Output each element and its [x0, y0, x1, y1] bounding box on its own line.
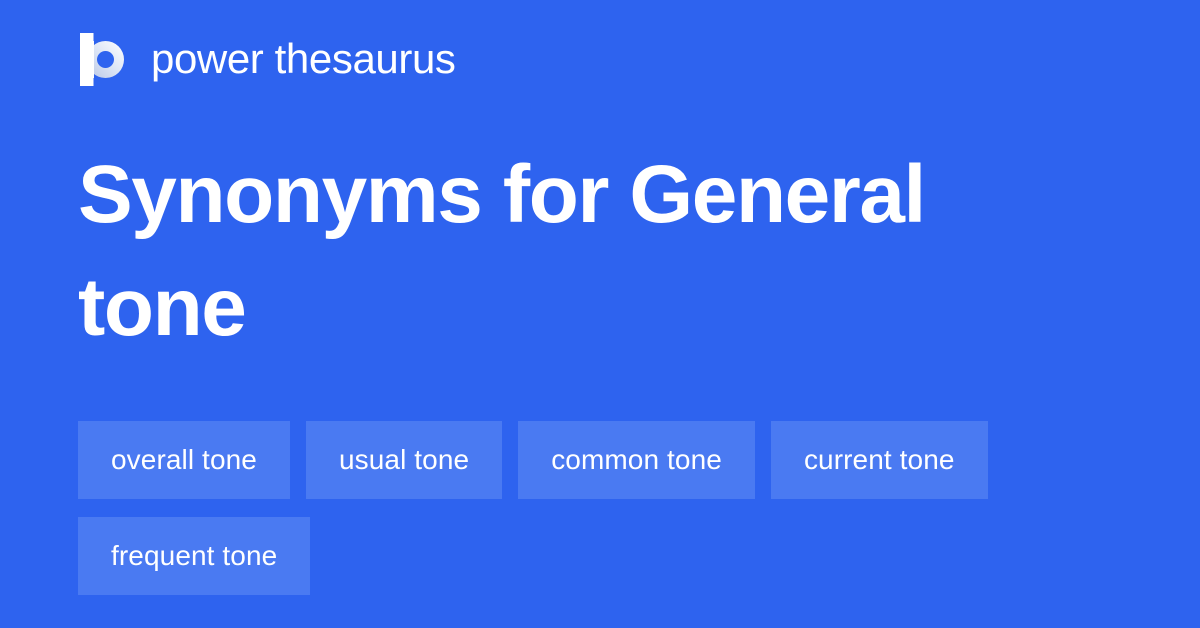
page-root: power thesaurus Synonyms for General ton…	[0, 0, 1200, 628]
synonym-chip[interactable]: overall tone	[78, 421, 290, 499]
synonym-chip-list: overall tone usual tone common tone curr…	[78, 421, 1128, 595]
page-title: Synonyms for General tone	[78, 138, 1088, 364]
brand-name: power thesaurus	[151, 38, 456, 80]
brand-logo[interactable]: power thesaurus	[80, 30, 456, 88]
power-thesaurus-b-logo-icon	[80, 33, 132, 86]
synonym-chip[interactable]: usual tone	[306, 421, 502, 499]
synonym-chip[interactable]: common tone	[518, 421, 755, 499]
synonym-chip[interactable]: current tone	[771, 421, 988, 499]
synonym-chip[interactable]: frequent tone	[78, 517, 310, 595]
